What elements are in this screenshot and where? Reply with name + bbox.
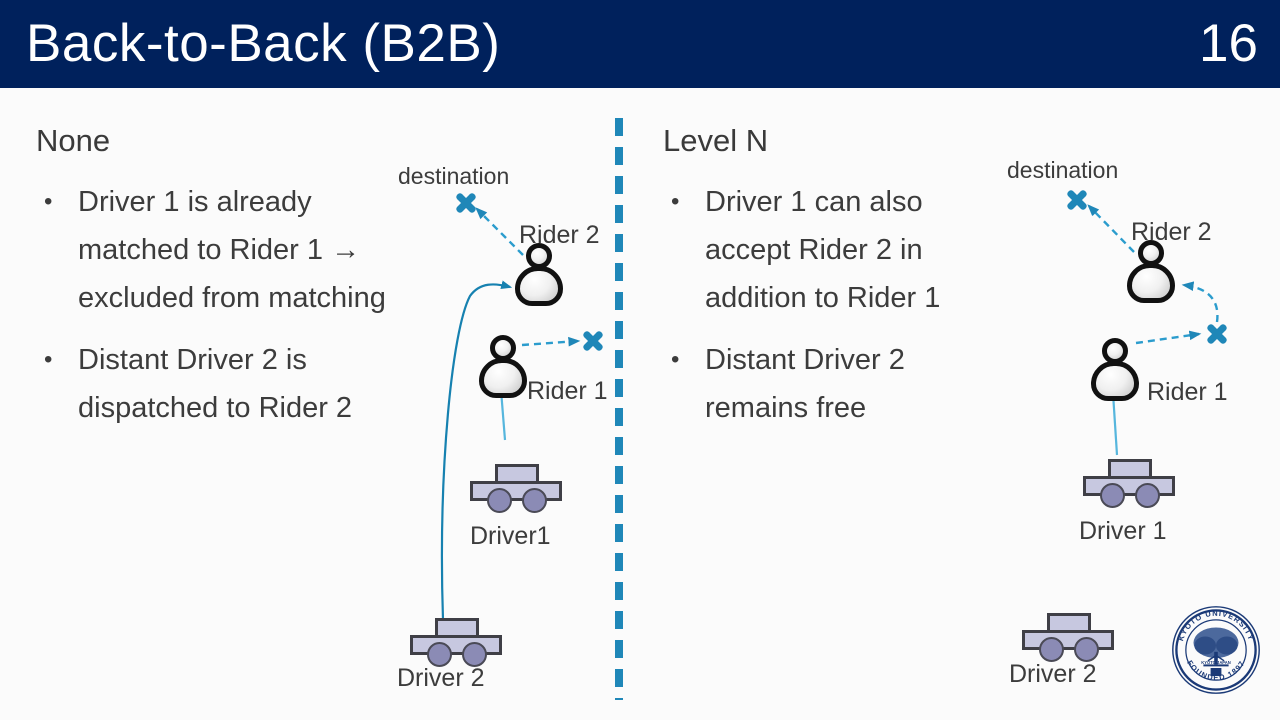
slide-canvas: Back-to-Back (B2B) 16 None Driver 1 is a…: [0, 0, 1280, 720]
right-bullet-list: Driver 1 can also accept Rider 2 in addi…: [663, 178, 993, 446]
car-wheel-rear: [1135, 483, 1160, 508]
left-driver1-car-icon: [470, 464, 562, 508]
left-driver2-car-icon: [410, 618, 502, 662]
car-wheel-front: [1100, 483, 1125, 508]
list-item: Driver 1 can also accept Rider 2 in addi…: [663, 178, 993, 322]
right-rider2-person-icon: [1125, 240, 1181, 302]
left-driver2-label: Driver 2: [397, 663, 485, 693]
right-rider1-label: Rider 1: [1147, 377, 1228, 407]
person-body: [1127, 263, 1175, 303]
person-body: [1091, 361, 1139, 401]
kyoto-university-seal-logo: KYOTO UNIVERSITY FOUNDED 1897 KYOTO JAPA…: [1171, 605, 1261, 695]
right-rider1-person-icon: [1089, 338, 1145, 400]
list-item: Driver 1 is already matched to Rider 1 →…: [36, 178, 406, 322]
person-body: [479, 358, 527, 398]
right-rider2-label: Rider 2: [1131, 217, 1212, 247]
right-driver1-rider1-link: [1113, 393, 1117, 455]
left-rider2-person-icon: [513, 243, 569, 305]
list-item: Distant Driver 2 is dispatched to Rider …: [36, 336, 406, 432]
car-wheel-front: [487, 488, 512, 513]
car-body: [1083, 476, 1175, 496]
right-driver1-car-icon: [1083, 459, 1175, 503]
right-driver2-car-icon: [1022, 613, 1114, 657]
left-bullet-list: Driver 1 is already matched to Rider 1 →…: [36, 178, 406, 446]
right-column-heading: Level N: [663, 122, 768, 160]
left-rider2-label: Rider 2: [519, 220, 600, 250]
vertical-dashed-divider: [615, 118, 623, 700]
page-title: Back-to-Back (B2B): [26, 8, 500, 80]
left-rider1-label: Rider 1: [527, 376, 608, 406]
right-driver1-label: Driver 1: [1079, 516, 1167, 546]
left-column-heading: None: [36, 122, 110, 160]
person-body: [515, 266, 563, 306]
seal-inner-text: KYOTO JAPAN: [1201, 660, 1230, 665]
car-wheel-rear: [522, 488, 547, 513]
slide-number: 16: [1199, 8, 1258, 80]
left-driver1-label: Driver1: [470, 521, 551, 551]
car-body: [1022, 630, 1114, 650]
right-b2b-chain-arrow: [1184, 285, 1217, 322]
right-rider1-destination-arrow: [1136, 334, 1199, 343]
car-body: [470, 481, 562, 501]
right-destination-label: destination: [1007, 155, 1118, 185]
car-body: [410, 635, 502, 655]
destination-x-icon: [1060, 183, 1094, 217]
destination-x-icon: [576, 324, 610, 358]
destination-x-icon: [449, 186, 483, 220]
destination-x-icon: [1200, 317, 1234, 351]
right-driver2-label: Driver 2: [1009, 659, 1097, 689]
left-destination-label: destination: [398, 161, 509, 191]
left-rider1-person-icon: [477, 335, 533, 397]
list-item: Distant Driver 2 remains free: [663, 336, 993, 432]
